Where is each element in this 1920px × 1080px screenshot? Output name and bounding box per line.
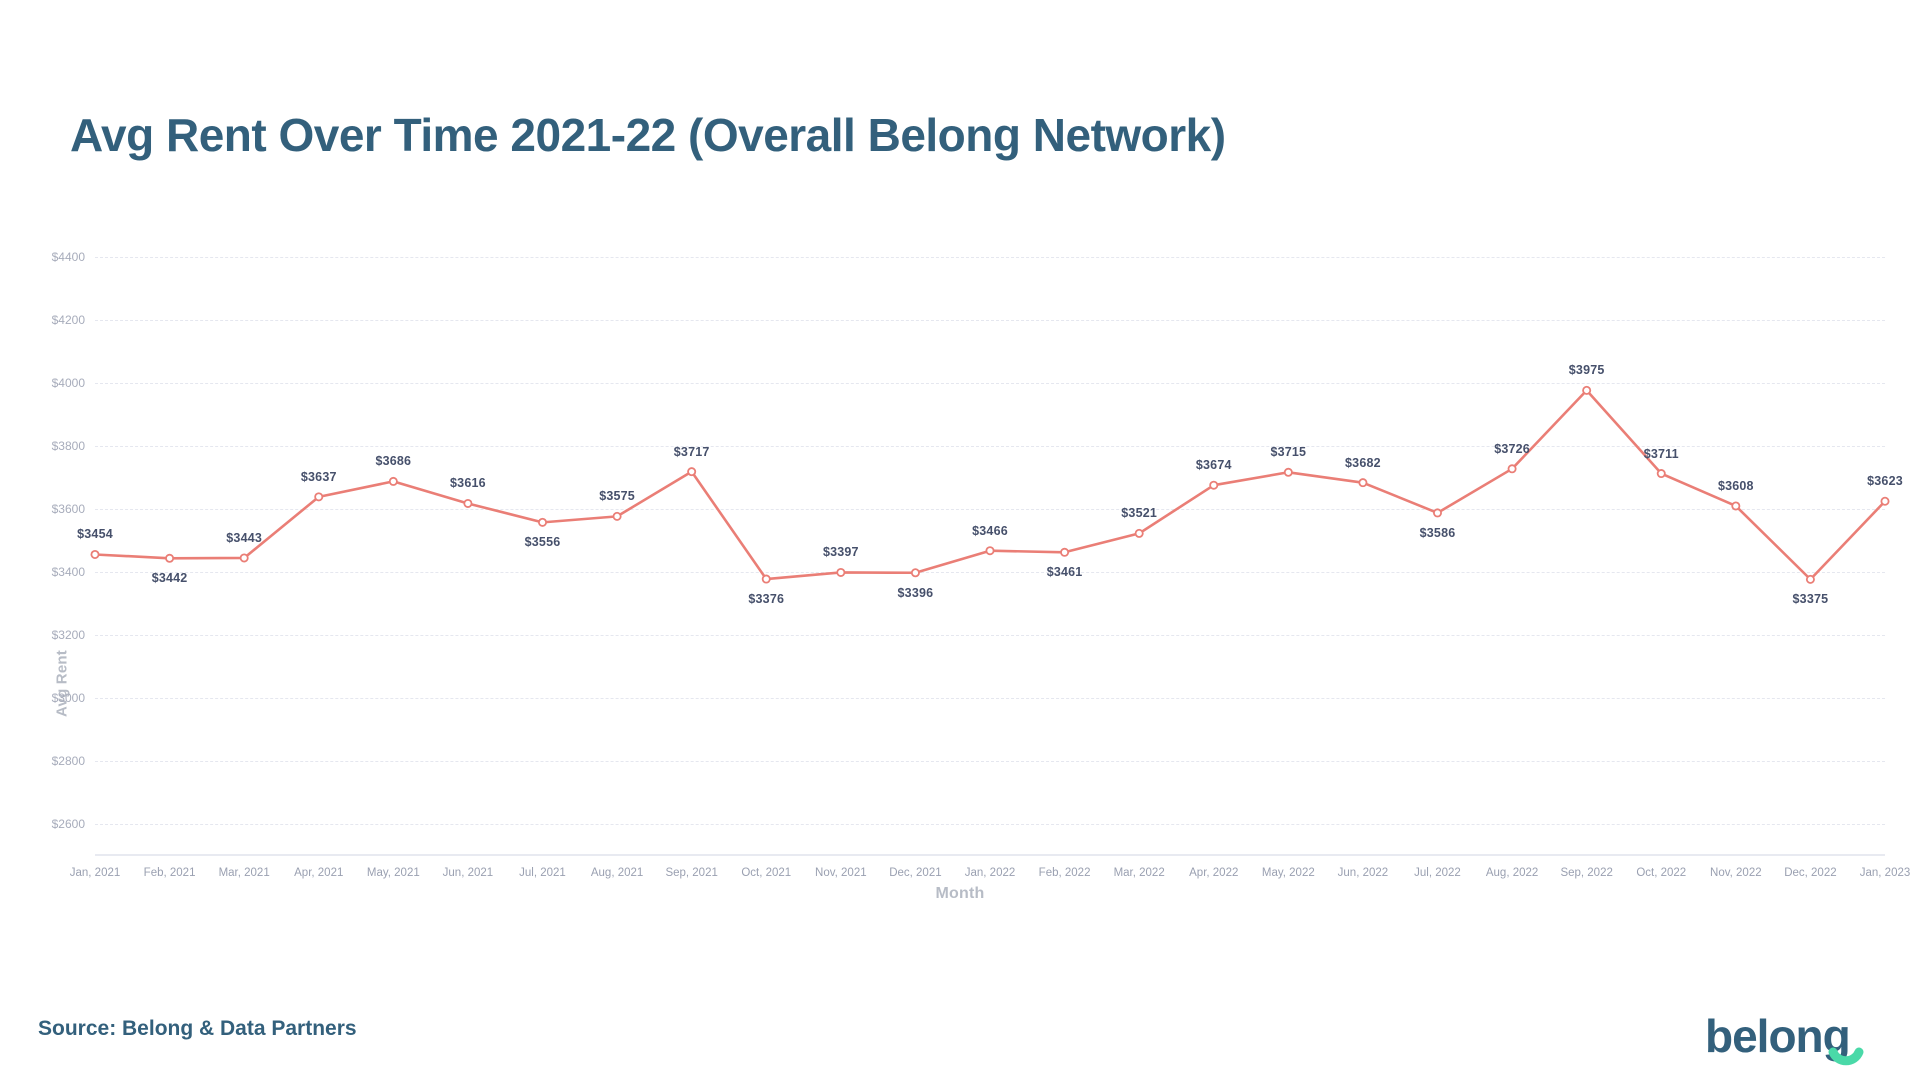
- x-axis-tick-label: Feb, 2021: [144, 867, 196, 879]
- x-axis-tick-label: Mar, 2021: [219, 867, 270, 879]
- x-axis-tick-label: Jul, 2022: [1414, 867, 1461, 879]
- rent-line-series: [95, 225, 1885, 855]
- plot-area: $2600$2800$3000$3200$3400$3600$3800$4000…: [95, 225, 1885, 855]
- data-point-marker[interactable]: [1359, 479, 1366, 486]
- data-point-label: $3443: [226, 531, 262, 545]
- data-point-marker[interactable]: [315, 493, 322, 500]
- x-axis-tick-label: Feb, 2022: [1039, 867, 1091, 879]
- data-point-label: $3637: [301, 470, 337, 484]
- x-axis-tick-label: Nov, 2021: [815, 867, 867, 879]
- data-point-marker[interactable]: [1732, 502, 1739, 509]
- data-point-label: $3521: [1121, 506, 1157, 520]
- data-point-marker[interactable]: [837, 569, 844, 576]
- x-axis-tick-label: Jun, 2022: [1338, 867, 1389, 879]
- data-point-label: $3682: [1345, 456, 1381, 470]
- data-point-label: $3616: [450, 476, 486, 490]
- data-point-marker[interactable]: [464, 500, 471, 507]
- x-axis-tick-label: May, 2021: [367, 867, 420, 879]
- x-axis-tick-label: Nov, 2022: [1710, 867, 1762, 879]
- x-axis-tick-label: Sep, 2022: [1560, 867, 1612, 879]
- data-point-marker[interactable]: [613, 513, 620, 520]
- data-point-label: $3397: [823, 545, 859, 559]
- data-point-marker[interactable]: [91, 551, 98, 558]
- logo-wordmark: belong: [1705, 1010, 1850, 1062]
- y-axis-tick-label: $3000: [52, 691, 85, 705]
- data-point-marker[interactable]: [986, 547, 993, 554]
- x-axis-tick-label: Jan, 2023: [1860, 867, 1911, 879]
- chart-region: Avg Rent $2600$2800$3000$3200$3400$3600$…: [0, 195, 1920, 915]
- data-point-label: $3375: [1793, 592, 1829, 606]
- data-point-label: $3466: [972, 524, 1008, 538]
- data-point-label: $3717: [674, 445, 710, 459]
- x-axis-tick-label: Dec, 2022: [1784, 867, 1836, 879]
- x-axis-tick-label: Oct, 2021: [741, 867, 791, 879]
- x-axis-title: Month: [0, 885, 1920, 903]
- data-point-label: $3674: [1196, 458, 1232, 472]
- data-point-label: $3442: [152, 571, 188, 585]
- data-point-marker[interactable]: [166, 555, 173, 562]
- chart-page: Avg Rent Over Time 2021-22 (Overall Belo…: [0, 0, 1920, 1080]
- data-point-label: $3575: [599, 489, 635, 503]
- data-point-label: $3715: [1270, 445, 1306, 459]
- x-axis-tick-label: Jan, 2021: [70, 867, 121, 879]
- data-point-marker[interactable]: [539, 519, 546, 526]
- data-point-label: $3586: [1420, 526, 1456, 540]
- x-axis-tick-label: Mar, 2022: [1114, 867, 1165, 879]
- y-axis-tick-label: $3600: [52, 502, 85, 516]
- data-point-label: $3461: [1047, 565, 1083, 579]
- data-point-marker[interactable]: [1210, 482, 1217, 489]
- x-axis-tick-label: Sep, 2021: [665, 867, 717, 879]
- data-point-marker[interactable]: [1658, 470, 1665, 477]
- x-axis-tick-label: Jun, 2021: [443, 867, 494, 879]
- data-point-marker[interactable]: [1434, 509, 1441, 516]
- data-point-marker[interactable]: [1136, 530, 1143, 537]
- data-point-marker[interactable]: [241, 554, 248, 561]
- y-axis-tick-label: $4000: [52, 376, 85, 390]
- data-point-label: $3623: [1867, 474, 1903, 488]
- x-axis-tick-label: Jan, 2022: [965, 867, 1016, 879]
- data-point-label: $3396: [898, 586, 934, 600]
- data-point-marker[interactable]: [1583, 387, 1590, 394]
- data-point-label: $3376: [748, 592, 784, 606]
- x-axis-tick-label: Aug, 2022: [1486, 867, 1538, 879]
- x-axis-tick-label: Aug, 2021: [591, 867, 643, 879]
- page-title: Avg Rent Over Time 2021-22 (Overall Belo…: [70, 108, 1226, 162]
- data-point-label: $3454: [77, 527, 113, 541]
- data-point-marker[interactable]: [1807, 576, 1814, 583]
- data-point-marker[interactable]: [1285, 469, 1292, 476]
- data-point-label: $3711: [1644, 447, 1679, 461]
- data-point-marker[interactable]: [688, 468, 695, 475]
- y-axis-tick-label: $4400: [52, 250, 85, 264]
- belong-logo: belong: [1705, 1008, 1880, 1068]
- y-axis-tick-label: $3800: [52, 439, 85, 453]
- x-axis-tick-label: Dec, 2021: [889, 867, 941, 879]
- data-point-marker[interactable]: [1061, 549, 1068, 556]
- y-axis-tick-label: $2800: [52, 754, 85, 768]
- data-point-label: $3608: [1718, 479, 1754, 493]
- data-point-marker[interactable]: [1881, 498, 1888, 505]
- data-point-label: $3686: [375, 454, 411, 468]
- data-point-label: $3726: [1494, 442, 1530, 456]
- y-axis-tick-label: $4200: [52, 313, 85, 327]
- data-point-marker[interactable]: [390, 478, 397, 485]
- data-point-label: $3975: [1569, 363, 1605, 377]
- y-axis-tick-label: $3400: [52, 565, 85, 579]
- data-point-label: $3556: [525, 535, 561, 549]
- data-point-marker[interactable]: [1508, 465, 1515, 472]
- x-axis-tick-label: May, 2022: [1262, 867, 1315, 879]
- y-axis-tick-label: $2600: [52, 817, 85, 831]
- data-point-marker[interactable]: [763, 575, 770, 582]
- x-axis-tick-label: Jul, 2021: [519, 867, 566, 879]
- y-axis-tick-label: $3200: [52, 628, 85, 642]
- source-note: Source: Belong & Data Partners: [38, 1017, 357, 1041]
- x-axis-tick-label: Apr, 2022: [1189, 867, 1238, 879]
- x-axis-tick-label: Oct, 2022: [1636, 867, 1686, 879]
- x-axis-tick-label: Apr, 2021: [294, 867, 343, 879]
- data-point-marker[interactable]: [912, 569, 919, 576]
